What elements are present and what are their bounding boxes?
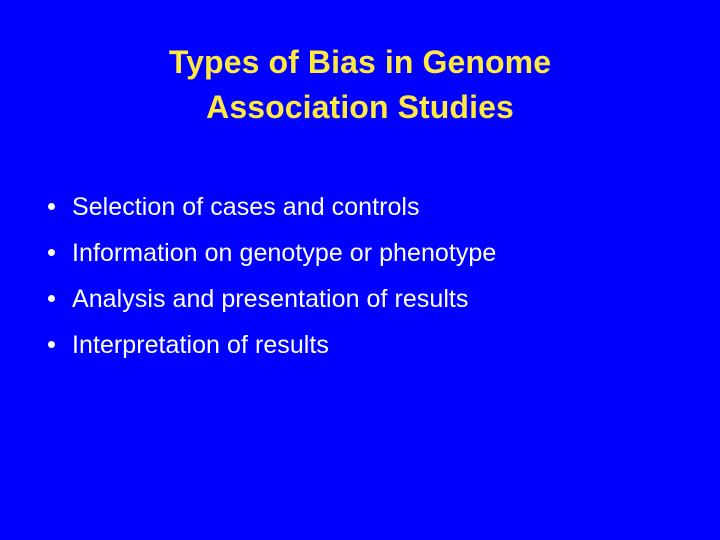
bullet-dot-icon bbox=[48, 249, 55, 256]
slide-title: Types of Bias in Genome Association Stud… bbox=[40, 40, 680, 130]
bullet-item-label-4: Interpretation of results bbox=[72, 331, 329, 359]
list-item: Interpretation of results bbox=[44, 327, 684, 373]
bullet-dot-icon bbox=[48, 295, 55, 302]
slide-bullet-list: Selection of cases and controls Informat… bbox=[44, 189, 684, 373]
bullet-dot-icon bbox=[48, 341, 55, 348]
presentation-slide: Types of Bias in Genome Association Stud… bbox=[0, 0, 720, 540]
bullet-item-label-3: Analysis and presentation of results bbox=[72, 285, 468, 313]
bullet-item-label-1: Selection of cases and controls bbox=[72, 193, 420, 221]
list-item: Analysis and presentation of results bbox=[44, 281, 684, 327]
slide-title-line-1: Types of Bias in Genome bbox=[40, 40, 680, 85]
bullet-dot-icon bbox=[48, 203, 55, 210]
list-item: Selection of cases and controls bbox=[44, 189, 684, 235]
bullet-item-label-2: Information on genotype or phenotype bbox=[72, 239, 496, 267]
slide-title-line-2: Association Studies bbox=[40, 85, 680, 130]
list-item: Information on genotype or phenotype bbox=[44, 235, 684, 281]
